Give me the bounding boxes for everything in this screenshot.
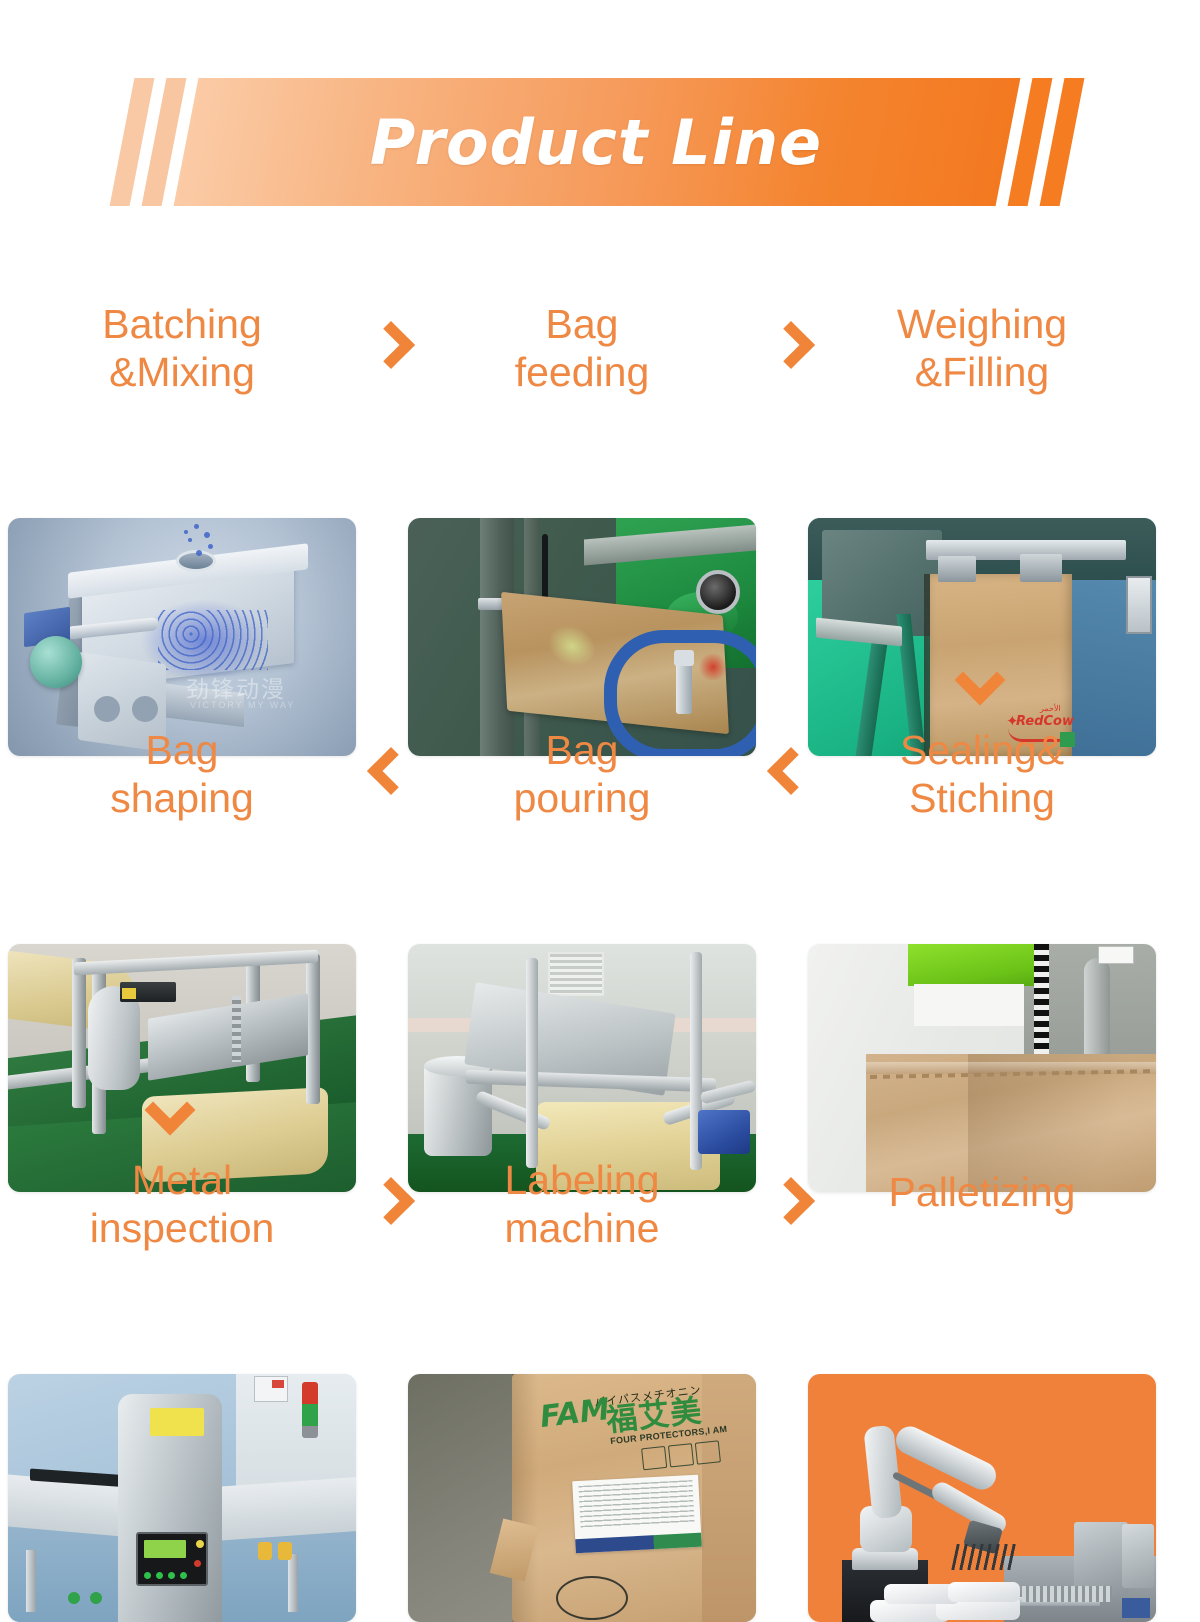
step-label-line1: Bag (422, 726, 742, 774)
roller-conveyor (1022, 1586, 1112, 1602)
step-image-palletizing (808, 1374, 1156, 1622)
step-label-line2: Stiching (822, 774, 1142, 822)
step-label-palletizing: Palletizing (822, 1168, 1142, 1216)
step-label-line1: Metal (22, 1156, 342, 1204)
chevron-left-icon (767, 747, 815, 795)
step-label-line1: Labeling (422, 1156, 742, 1204)
stacked-sacks (870, 1582, 1020, 1622)
blue-crate (1122, 1598, 1150, 1618)
step-label-line2: machine (422, 1204, 742, 1252)
keep-dry-icon (641, 1446, 667, 1470)
wall-vent (548, 952, 604, 996)
machine-cabinet (1074, 1522, 1128, 1596)
yellow-sticker (150, 1408, 204, 1436)
support-leg (288, 1554, 298, 1612)
cable (542, 534, 548, 606)
step-label-weighing-filling: Weighing &Filling (822, 300, 1142, 397)
step-label-line2: inspection (22, 1204, 342, 1252)
step-label-line2: &Filling (822, 348, 1142, 396)
frame-top-bar (74, 950, 318, 976)
vertical-post (526, 958, 538, 1168)
granule (204, 532, 210, 538)
flow-row-1: Batching &Mixing Bag feeding Weighing &F… (0, 282, 1200, 400)
green-button (90, 1592, 102, 1604)
panel-button (156, 1572, 163, 1579)
yellow-fitting (258, 1542, 272, 1560)
indicator-light-yellow (196, 1540, 204, 1548)
product-label (572, 1475, 702, 1553)
guide-blade (1084, 958, 1110, 1058)
yellow-fitting (278, 1542, 292, 1560)
granule (188, 538, 192, 542)
flow-row-2-labels: Bag shaping Bag pouring Sealing& Stichin… (0, 708, 1200, 826)
green-button (68, 1592, 80, 1604)
kraft-sack-behind (702, 1374, 756, 1622)
step-image-labeling-machine: バイパスメチオニン FAM 福艾美 FOUR PROTECTORS,I AM (408, 1374, 756, 1622)
adjust-screw (232, 996, 241, 1062)
conveyor-belt-right (216, 1477, 356, 1541)
watermark-text: 劲锋动漫 (186, 670, 286, 704)
step-image-metal-inspection (8, 1374, 356, 1622)
panel-button (168, 1572, 175, 1579)
step-label-bag-pouring: Bag pouring (422, 726, 742, 823)
step-label-labeling-machine: Labeling machine (422, 1156, 742, 1253)
step-label-line1: Palletizing (822, 1168, 1142, 1216)
control-panel (1126, 576, 1152, 634)
frame-post (306, 954, 320, 1104)
step-label-line1: Bag (22, 726, 342, 774)
flow-row-2: Bag shaping Bag pouring Sealing& Stichin… (0, 708, 1200, 826)
flow-row-3: Metal inspection Labeling machine Pallet… (0, 1138, 1200, 1256)
step-label-line2: shaping (22, 774, 342, 822)
bag-clamp (938, 556, 976, 582)
mixer-motor (30, 636, 82, 688)
no-sunlight-icon (668, 1443, 694, 1467)
support-leg (26, 1550, 36, 1612)
lcd-display (144, 1540, 186, 1558)
step-label-line1: Sealing& (822, 726, 1142, 774)
label-text-lines (578, 1480, 694, 1530)
step-label-line2: &Mixing (22, 348, 342, 396)
no-heat-icon (695, 1440, 721, 1464)
chevron-right-icon (767, 321, 815, 369)
frame-post (72, 958, 86, 1108)
granule (196, 550, 202, 556)
metal-inspection-photo (8, 1374, 356, 1622)
machine-cabinet (1122, 1524, 1154, 1588)
yellow-label (122, 988, 136, 999)
roller-wheel (696, 570, 740, 614)
panel-button (144, 1572, 151, 1579)
granule-texture (158, 610, 268, 670)
page-title: Product Line (0, 78, 1200, 206)
step-label-line2: feeding (422, 348, 742, 396)
document-mark (272, 1380, 284, 1388)
step-label-batching-mixing: Batching &Mixing (22, 300, 342, 397)
white-panel (914, 984, 1024, 1026)
chevron-right-icon (367, 1177, 415, 1225)
nozzle-tip (674, 650, 694, 666)
step-label-line1: Batching (22, 300, 342, 348)
paper-sheen (548, 622, 596, 670)
bag-clamp (1020, 554, 1062, 582)
palletizing-photo (808, 1374, 1156, 1622)
green-package (908, 944, 1034, 986)
step-label-metal-inspection: Metal inspection (22, 1156, 342, 1253)
step-label-line2: pouring (422, 774, 742, 822)
panel-button (180, 1572, 187, 1579)
granule (208, 544, 213, 549)
granule (194, 524, 199, 529)
chevron-right-icon (767, 1177, 815, 1225)
granule (184, 530, 188, 534)
machine-tag (1098, 946, 1134, 964)
stitching-chain (1034, 944, 1049, 1056)
step-label-line1: Weighing (822, 300, 1142, 348)
product-line-infographic: Product Line Batching &Mixing Bag feedin… (0, 0, 1200, 1613)
sack-fold-shadow (512, 1374, 538, 1622)
chevron-right-icon (367, 321, 415, 369)
step-label-bag-feeding: Bag feeding (422, 300, 742, 397)
flow-row-1-labels: Batching &Mixing Bag feeding Weighing &F… (0, 282, 1200, 400)
chevron-left-icon (367, 747, 415, 795)
bag-stamp-circle (556, 1576, 628, 1620)
flow-row-3-labels: Metal inspection Labeling machine Pallet… (0, 1138, 1200, 1256)
robot-fork-gripper (951, 1544, 1019, 1570)
labeling-machine-photo: バイパスメチオニン FAM 福艾美 FOUR PROTECTORS,I AM (408, 1374, 756, 1622)
sack (948, 1582, 1020, 1602)
indicator-light-red (194, 1560, 201, 1567)
tower-light (302, 1382, 318, 1438)
step-label-bag-shaping: Bag shaping (22, 726, 342, 823)
step-label-sealing-stitching: Sealing& Stiching (822, 726, 1142, 823)
step-label-line1: Bag (422, 300, 742, 348)
nozzle (676, 658, 692, 714)
